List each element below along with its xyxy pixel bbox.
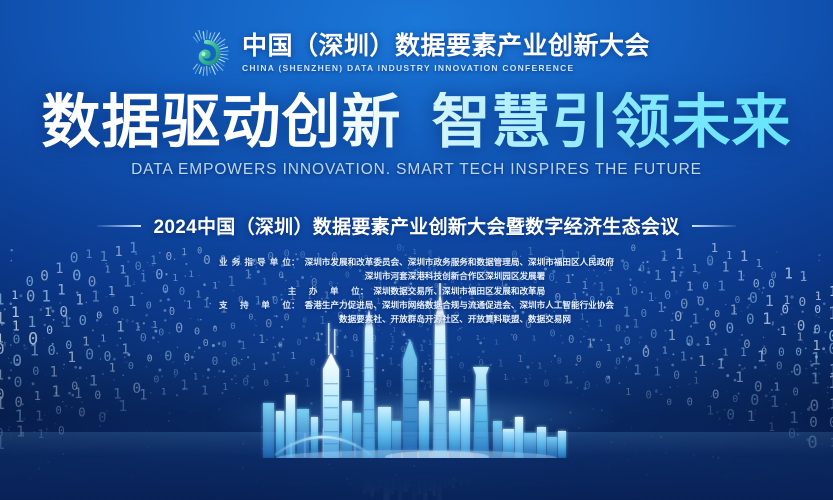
strap-text: 2024中国（深圳）数据要素产业创新大会暨数字经济生态会议: [154, 212, 680, 239]
organizer-row-continued: 深圳市河套深港科技创新合作区深圳园区发展署: [288, 270, 545, 283]
organizer-row: 支持单位：香港生产力促进局、深圳市网络数据合规与流通促进会、深圳市人工智能行业协…: [219, 299, 614, 312]
organizer-value: 数据要素社、开放群岛开源社区、开放算料联盟、数据交易网: [339, 313, 571, 326]
header-text-block: 中国（深圳）数据要素产业创新大会 CHINA (SHENZHEN) DATA I…: [242, 33, 650, 73]
strap-rule-right-icon: [692, 225, 736, 227]
organizer-value: 深圳市河套深港科技创新合作区深圳园区发展署: [365, 270, 545, 283]
svg-text:0: 0: [194, 327, 200, 338]
svg-text:0: 0: [203, 338, 209, 349]
organizer-colon: ：: [291, 256, 300, 268]
svg-text:1: 1: [401, 247, 405, 253]
svg-text:1: 1: [412, 247, 416, 256]
svg-text:0: 0: [158, 328, 164, 339]
svg-text:1: 1: [0, 331, 4, 346]
organizer-indent: [262, 313, 339, 326]
svg-text:1: 1: [797, 331, 804, 344]
svg-text:0: 0: [624, 334, 631, 348]
conference-burst-logo: [183, 30, 229, 76]
organizer-colon: ：: [291, 299, 300, 311]
organizer-row: 主办单位：深圳数据交易所、深圳市福田区发展和改革局: [288, 285, 546, 298]
svg-text:1: 1: [704, 334, 711, 348]
hero-title-part2: 智慧引领未来: [432, 89, 792, 155]
svg-text:1: 1: [82, 335, 90, 350]
svg-text:0: 0: [631, 244, 636, 254]
organizer-value: 深圳数据交易所、深圳市福田区发展和改革局: [373, 285, 545, 298]
organizer-row: 业务指导单位：深圳市发展和改革委员会、深圳市政务服务和数据管理局、深圳市福田区人…: [219, 256, 614, 269]
hero-title: 数据驱动创新智慧引领未来: [41, 92, 791, 154]
organizer-label: 主办单位: [288, 285, 360, 297]
svg-text:1: 1: [711, 241, 718, 255]
organizer-label: 业务指导单位: [219, 256, 291, 268]
svg-text:0: 0: [28, 328, 38, 348]
svg-text:1: 1: [129, 241, 137, 257]
svg-text:0: 0: [13, 333, 21, 348]
hero-title-block: 数据驱动创新智慧引领未来 DATA EMPOWERS INNOVATION. S…: [0, 92, 833, 179]
conference-name-en: CHINA (SHENZHEN) DATA INDUSTRY INNOVATIO…: [242, 63, 574, 73]
water-reflection: [0, 432, 833, 500]
svg-text:1: 1: [100, 334, 106, 345]
svg-text:0: 0: [140, 331, 147, 345]
banner-header: 中国（深圳）数据要素产业创新大会 CHINA (SHENZHEN) DATA I…: [0, 30, 833, 76]
svg-text:0: 0: [685, 334, 694, 350]
svg-text:0: 0: [828, 327, 833, 345]
conference-name-cn: 中国（深圳）数据要素产业创新大会: [242, 33, 650, 60]
svg-text:1: 1: [668, 328, 676, 344]
hero-title-part1: 数据驱动创新: [41, 89, 401, 155]
organizer-indent: [288, 270, 365, 283]
svg-text:0: 0: [222, 340, 227, 349]
svg-text:0: 0: [197, 246, 202, 256]
svg-text:0: 0: [650, 327, 657, 341]
svg-text:0: 0: [397, 243, 403, 254]
organizer-value: 香港生产力促进局、深圳市网络数据合规与流通促进会、深圳市人工智能行业协会: [305, 299, 614, 312]
conference-banner: 1100101111110110011010100101111011111011…: [0, 0, 833, 500]
strap-rule-left-icon: [97, 225, 141, 227]
organizer-label: 支持单位: [219, 299, 291, 311]
organizer-colon: ：: [360, 285, 369, 297]
strap-line: 2024中国（深圳）数据要素产业创新大会暨数字经济生态会议: [0, 212, 833, 239]
organizer-value: 深圳市发展和改革委员会、深圳市政务服务和数据管理局、深圳市福田区人民政府: [305, 256, 614, 269]
organizers-block: 业务指导单位：深圳市发展和改革委员会、深圳市政务服务和数据管理局、深圳市福田区人…: [0, 256, 833, 327]
svg-text:1: 1: [586, 335, 594, 350]
hero-subtitle-en: DATA EMPOWERS INNOVATION. SMART TECH INS…: [0, 161, 833, 179]
organizer-row-continued: 数据要素社、开放群岛开源社区、开放算料联盟、数据交易网: [262, 313, 571, 326]
